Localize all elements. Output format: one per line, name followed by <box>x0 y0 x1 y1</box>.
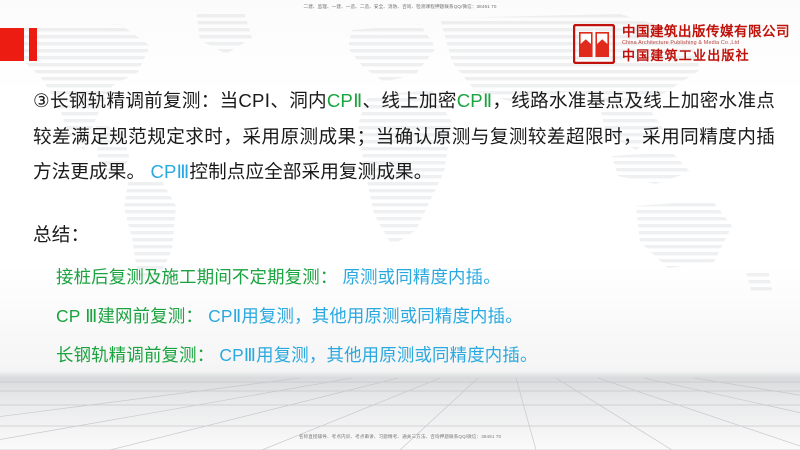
summary-row-2: CP Ⅲ建网前复测： CPⅡ用复测，其他用原测或同精度内插。 <box>56 297 786 336</box>
summary-heading: 总结： <box>33 220 89 247</box>
summary-row-3-label: 长钢轨精调前复测： <box>56 345 214 365</box>
para-seg-2: 、线上加密 <box>363 90 457 111</box>
summary-row-1-label: 接桩后复测及施工期间不定期复测： <box>56 267 337 287</box>
presentation-slide: 二建、监理、一建、一造、二造、安全、消防、咨询、检测课程押题联系QQ/微信：38… <box>0 0 800 450</box>
summary-row-2-value: CPⅡ用复测，其他用原测或同精度内插。 <box>208 306 523 326</box>
main-paragraph: ③长钢轨精调前复测：当CPⅠ、洞内CPⅡ、线上加密CPⅡ，线路水准基点及线上加密… <box>33 83 775 190</box>
summary-row-3: 长钢轨精调前复测： CPⅢ用复测，其他用原测或同精度内插。 <box>56 336 786 375</box>
summary-row-3-value: CPⅢ用复测，其他用原测或同精度内插。 <box>219 345 537 365</box>
summary-row-1: 接桩后复测及施工期间不定期复测： 原测或同精度内插。 <box>56 258 786 297</box>
slide-content: ③长钢轨精调前复测：当CPⅠ、洞内CPⅡ、线上加密CPⅡ，线路水准基点及线上加密… <box>0 0 800 450</box>
para-seg-6: 控制点应全部采用复测成果。 <box>189 161 432 182</box>
footer-watermark-note: 名师直授辅导、考点内训、考点串讲、习题精考、通关三方法、咨询押题联系QQ/微信：… <box>0 434 800 440</box>
para-seg-5-cp3: CPⅢ <box>150 161 189 182</box>
para-seg-0: ③长钢轨精调前复测：当CPⅠ、洞内 <box>33 90 327 111</box>
para-seg-3-cp2: CPⅡ <box>457 90 493 111</box>
para-seg-1-cp2: CPⅡ <box>327 90 363 111</box>
summary-row-1-value: 原测或同精度内插。 <box>343 267 501 287</box>
summary-list: 接桩后复测及施工期间不定期复测： 原测或同精度内插。 CP Ⅲ建网前复测： CP… <box>56 258 786 375</box>
summary-row-2-label: CP Ⅲ建网前复测： <box>56 306 203 326</box>
